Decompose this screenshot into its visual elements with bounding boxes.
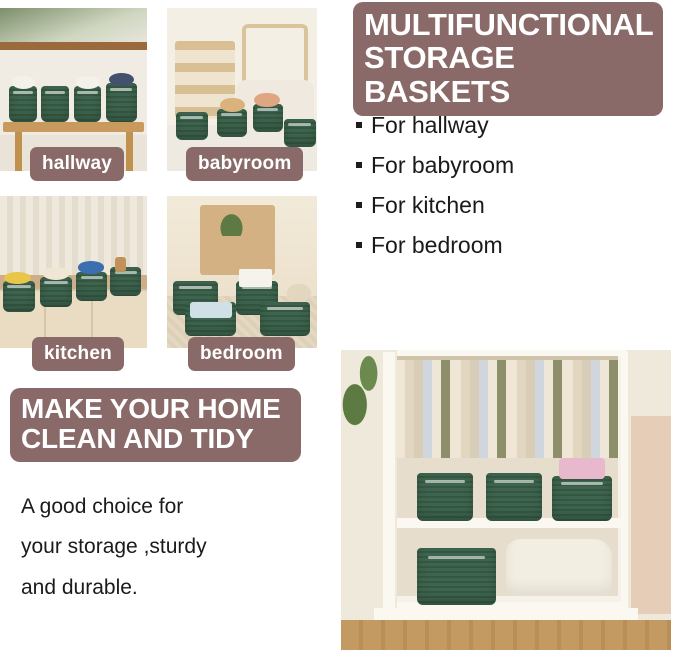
- window: [0, 8, 147, 44]
- basket: [106, 83, 137, 122]
- tagline: A good choice for your storage ,sturdy a…: [21, 487, 311, 608]
- photo-label-babyroom: babyroom: [186, 147, 303, 181]
- basket: [3, 281, 35, 311]
- feature-label: For babyroom: [371, 152, 514, 179]
- wardrobe-door: [381, 350, 398, 626]
- feature-label: For hallway: [371, 112, 489, 139]
- title-banner: MULTIFUNCTIONAL STORAGE BASKETS: [353, 2, 663, 116]
- magazine: [239, 269, 272, 287]
- feature-item: For kitchen: [356, 192, 656, 232]
- feature-item: For bedroom: [356, 232, 656, 272]
- bedroom-scene: [167, 196, 317, 348]
- title-line-1: MULTIFUNCTIONAL: [364, 8, 652, 41]
- hanging-clothes: [394, 356, 618, 458]
- toys: [220, 98, 246, 113]
- wooden-bench: [3, 122, 144, 132]
- basket: [9, 86, 37, 122]
- folded-duvet: [506, 539, 612, 596]
- tagline-line-1: A good choice for: [21, 487, 311, 527]
- basket: [74, 86, 102, 122]
- kitchen-scene: [0, 196, 147, 348]
- feature-list: For hallway For babyroom For kitchen For…: [356, 112, 656, 272]
- clothes-rod: [394, 356, 618, 360]
- bench-leg: [126, 132, 133, 171]
- tidy-banner: MAKE YOUR HOME CLEAN AND TIDY: [10, 388, 301, 462]
- infographic-page: hallway babyroom: [0, 0, 679, 658]
- tagline-line-3: and durable.: [21, 568, 311, 608]
- clothes-in-basket: [559, 458, 605, 479]
- feature-label: For kitchen: [371, 192, 485, 219]
- basket: [417, 473, 473, 521]
- window-frame: [0, 42, 147, 50]
- bottle: [115, 257, 127, 272]
- photo-closet: [341, 350, 671, 650]
- basket: [417, 548, 496, 605]
- feature-item: For babyroom: [356, 152, 656, 192]
- basket: [284, 119, 316, 147]
- snack-packets: [78, 261, 104, 273]
- basket: [552, 476, 611, 521]
- photo-label-kitchen: kitchen: [32, 337, 124, 371]
- accent-wall: [631, 416, 671, 614]
- basket: [260, 302, 310, 335]
- closet-scene: [341, 350, 671, 650]
- basket: [486, 473, 542, 521]
- photo-label-hallway: hallway: [30, 147, 124, 181]
- feature-item: For hallway: [356, 112, 656, 152]
- feature-label: For bedroom: [371, 232, 503, 259]
- plant: [206, 196, 257, 236]
- square-bullet-icon: [356, 242, 362, 248]
- photo-kitchen: [0, 196, 147, 348]
- bread: [43, 267, 69, 279]
- tidy-line-1: MAKE YOUR HOME: [21, 394, 290, 424]
- square-bullet-icon: [356, 122, 362, 128]
- tagline-line-2: your storage ,sturdy: [21, 527, 311, 567]
- basket: [176, 112, 208, 140]
- folded-linens: [109, 73, 134, 86]
- tidy-line-2: CLEAN AND TIDY: [21, 424, 290, 454]
- title-line-2: STORAGE BASKETS: [364, 41, 652, 108]
- photo-bedroom: [167, 196, 317, 348]
- square-bullet-icon: [356, 202, 362, 208]
- bench-leg: [15, 132, 22, 171]
- fruit: [4, 272, 30, 284]
- photo-label-bedroom: bedroom: [188, 337, 295, 371]
- basket: [40, 277, 72, 307]
- square-bullet-icon: [356, 162, 362, 168]
- wood-floor: [341, 620, 671, 650]
- folded-clothes: [190, 302, 232, 317]
- basket: [253, 104, 283, 132]
- basket: [41, 86, 69, 122]
- basket: [217, 109, 247, 137]
- basket: [76, 272, 107, 301]
- basket: [110, 267, 141, 296]
- toys: [254, 93, 280, 108]
